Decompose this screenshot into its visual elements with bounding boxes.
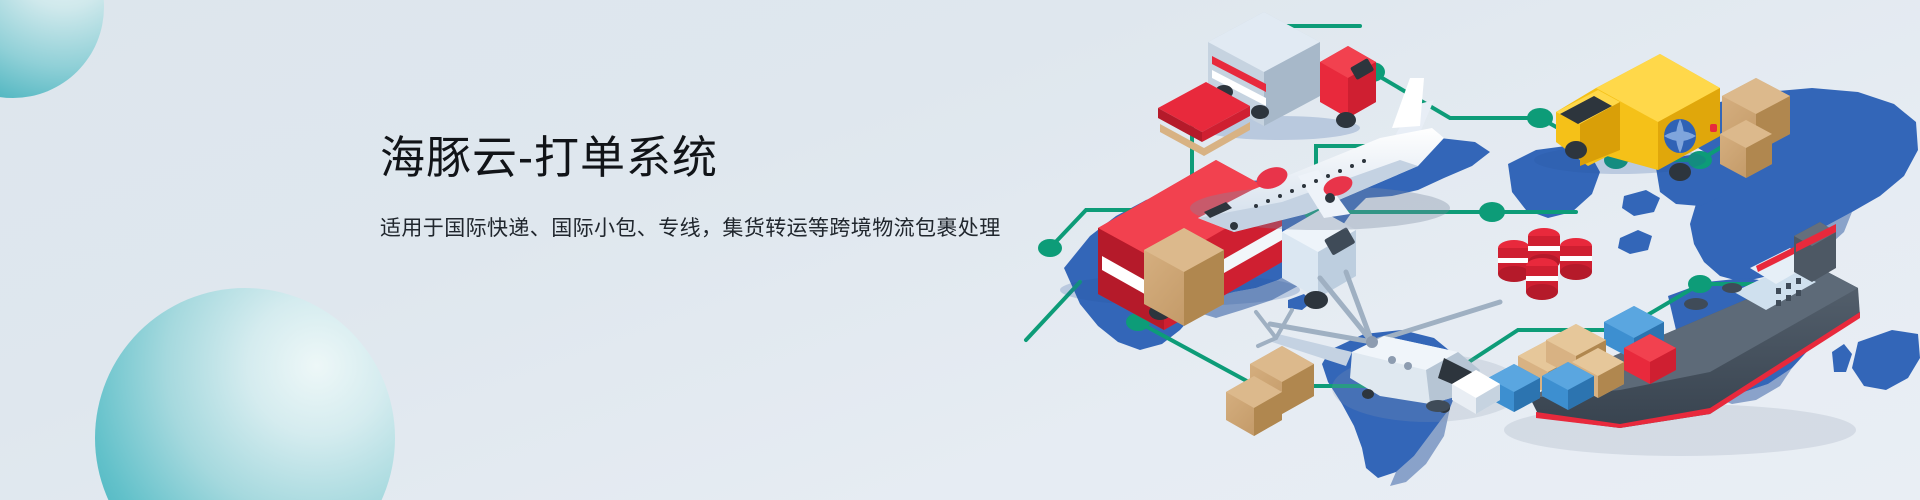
continent-australia	[1852, 330, 1920, 390]
container-ship-icon	[1426, 222, 1860, 456]
banner-text-block: 海豚云-打单系统 适用于国际快递、国际小包、专线，集货转运等跨境物流包裹处理	[380, 128, 1001, 245]
globe-icon	[1664, 119, 1696, 153]
network-node	[1527, 108, 1553, 128]
decorative-circle-top-left	[0, 0, 104, 98]
region-uk	[1618, 230, 1652, 254]
decorative-circle-bottom-left	[95, 288, 395, 500]
network-node	[1688, 275, 1712, 293]
island-madagascar	[1832, 344, 1852, 372]
hero-banner: 海豚云-打单系统 适用于国际快递、国际小包、专线，集货转运等跨境物流包裹处理	[0, 0, 1920, 500]
network-node	[1479, 202, 1505, 222]
network-node	[1038, 239, 1062, 257]
cardboard-boxes-icon	[1226, 346, 1314, 436]
world-logistics-illustration	[1020, 0, 1920, 500]
yellow-delivery-van-icon	[1534, 54, 1790, 181]
red-barrels-icon	[1498, 228, 1592, 300]
island-iceland	[1622, 190, 1660, 216]
page-title: 海豚云-打单系统	[380, 128, 1001, 187]
grey-box-truck-icon	[1158, 12, 1376, 156]
page-subtitle: 适用于国际快递、国际小包、专线，集货转运等跨境物流包裹处理	[380, 213, 1001, 245]
